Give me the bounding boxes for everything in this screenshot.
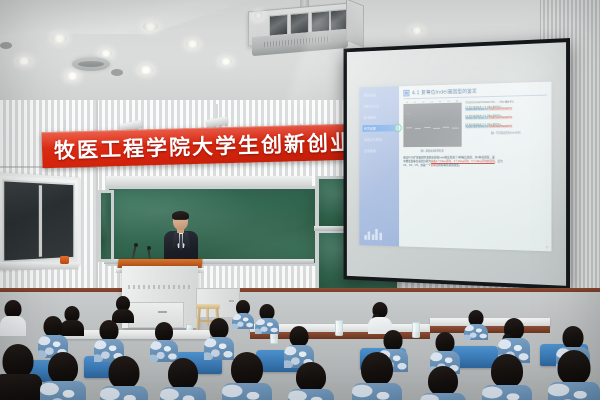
presentation-slide: 研究背景 材料与方法 技术路线 研究结果 创新点与特色 bbox=[359, 82, 552, 252]
slide-nav-label: 应用前景 bbox=[364, 149, 376, 153]
student-hair bbox=[384, 330, 403, 351]
student-uniform bbox=[204, 337, 234, 360]
student-hair bbox=[290, 326, 309, 347]
downlight bbox=[100, 50, 112, 57]
presenter-glasses bbox=[174, 219, 187, 223]
slide-body: M C1 C2 C3 C4 C5 WT bbox=[403, 98, 547, 152]
student-hair bbox=[44, 316, 63, 337]
downlight bbox=[66, 72, 79, 80]
microphone-head bbox=[134, 243, 138, 247]
sequence-block-1: C4 等位基因缺失 4 个 19bp 重复单元 TCAGGCCGACTGCAGC… bbox=[465, 113, 547, 121]
window-glass bbox=[2, 179, 74, 262]
slide-nav-item-0[interactable]: 研究背景 bbox=[362, 91, 395, 98]
downlight bbox=[17, 57, 31, 65]
student-hair bbox=[558, 350, 591, 385]
gel-caption: 图1. 凝胶电泳检测结果 bbox=[403, 148, 461, 152]
downlight bbox=[139, 66, 153, 74]
downlight bbox=[411, 27, 423, 34]
slide-content: 4.1 复等位Indel基因型的鉴定 M C1 C2 C3 C4 C5 bbox=[399, 82, 552, 252]
seq-highlight-red: TCAGGCCGACTGCAGCTCC bbox=[488, 116, 512, 119]
student-hair bbox=[436, 332, 455, 353]
student-uniform bbox=[255, 318, 279, 334]
audience-member bbox=[94, 320, 124, 360]
downlight bbox=[186, 40, 199, 48]
footnote-line-3: C1、C4、C5，这是一个复等位的复等位基因突变。 bbox=[403, 163, 547, 167]
audience-member bbox=[40, 352, 86, 400]
ceiling-hole bbox=[0, 42, 12, 49]
student-uniform bbox=[222, 383, 272, 400]
sequence-block-0: C1 等位基因缺失 1 个 19bp 重复单元 TCAGGCCGACTGCAGC… bbox=[465, 104, 547, 112]
student-hair bbox=[210, 318, 229, 339]
audience-member bbox=[464, 310, 488, 338]
stool-leg bbox=[196, 308, 201, 330]
student-uniform bbox=[464, 324, 488, 340]
slide-nav-label: 研究背景 bbox=[364, 94, 376, 98]
student-uniform bbox=[160, 387, 206, 400]
student-hair bbox=[296, 362, 326, 392]
seq-highlight-red: TCAGGCCGACTGCAGCTCC bbox=[488, 107, 512, 110]
slide-page-number: 17 bbox=[546, 245, 549, 249]
chalkboard-center bbox=[106, 186, 318, 266]
slide-nav-label: 研究结果 bbox=[364, 127, 376, 131]
audience-member bbox=[255, 304, 279, 332]
slide-footnote: 经过PCR扩增和测序发现该基因Indel突变形成了3种等位基因，共6种基因型，其… bbox=[403, 155, 547, 168]
lectern-handle bbox=[158, 311, 167, 313]
ceiling-bevel bbox=[0, 0, 250, 34]
audience-member bbox=[548, 350, 600, 400]
chalkboard-top-strip bbox=[106, 176, 312, 186]
student-uniform bbox=[100, 386, 148, 400]
audience-member bbox=[368, 302, 392, 332]
student-hair bbox=[361, 352, 393, 386]
downlight bbox=[52, 34, 67, 43]
slide-nav-item-5[interactable]: 应用前景 bbox=[362, 147, 395, 154]
slide-sidebar: 研究背景 材料与方法 技术路线 研究结果 创新点与特色 bbox=[359, 86, 399, 246]
audience-member bbox=[0, 300, 26, 334]
cage-window bbox=[290, 12, 309, 35]
audience-member bbox=[38, 316, 68, 356]
student-uniform bbox=[40, 381, 86, 400]
microphone-head bbox=[147, 246, 151, 250]
student-uniform bbox=[482, 385, 532, 400]
student-hair bbox=[428, 366, 458, 396]
student-uniform bbox=[150, 340, 178, 362]
sill-object bbox=[60, 256, 69, 264]
slide-nav-item-2[interactable]: 技术路线 bbox=[362, 114, 395, 121]
audience-member bbox=[284, 326, 314, 366]
student-uniform bbox=[548, 382, 600, 400]
banner-string bbox=[64, 120, 66, 129]
sequence-line: TCAGGCCGACTGCAGCTCCTCAGGCCGACTGCAGCTCC bbox=[465, 117, 547, 121]
water-bottle bbox=[335, 320, 343, 336]
student-uniform bbox=[352, 383, 402, 400]
student-hair bbox=[563, 326, 584, 349]
sequence-line: TCAGGCCGACTGCAGCTCCTCAGGCCGACTGCAGCTCC bbox=[465, 126, 547, 130]
footnote-pre: C1、C4、C5，这是一个 bbox=[403, 163, 430, 167]
student-hair bbox=[168, 358, 198, 390]
audience-member bbox=[112, 296, 134, 322]
ceiling-hole bbox=[111, 69, 123, 76]
seq-highlight-blue: TCAGGCCGACTGCAGCTCC bbox=[465, 125, 488, 128]
ac-vent bbox=[72, 57, 110, 71]
lecture-hall-photo: 牧医工程学院大学生创新创业 研究背景 材料与方法 技术路线 bbox=[0, 0, 600, 400]
slide-nav-item-3[interactable]: 研究结果 bbox=[362, 125, 395, 132]
footnote-post: 的复等位基因突变。 bbox=[438, 163, 461, 167]
slide-title: 4.1 复等位Indel基因型的鉴定 bbox=[412, 88, 477, 97]
screen-surface: 研究背景 材料与方法 技术路线 研究结果 创新点与特色 bbox=[347, 42, 566, 286]
seq-highlight-blue: TCAGGCCGACTGCAGCTCC bbox=[465, 108, 488, 111]
projector-side-panel bbox=[346, 0, 364, 48]
sequence-block-2: C5 等位基因缺失 5 个 19bp 重复单元 TCAGGCCGACTGCAGC… bbox=[465, 122, 547, 130]
student-hair bbox=[231, 352, 263, 386]
seq-highlight-red: TCAGGCCGACTGCAGCTCC bbox=[488, 125, 512, 128]
downlight bbox=[143, 22, 158, 31]
slide-nav-item-4[interactable]: 创新点与特色 bbox=[362, 136, 395, 143]
student-hair bbox=[491, 354, 523, 388]
ceiling-projector bbox=[248, 0, 358, 52]
audience-member bbox=[204, 318, 234, 358]
slide-nav-label: 技术路线 bbox=[364, 116, 376, 120]
student-uniform bbox=[232, 313, 254, 329]
slide-nav-label: 材料与方法 bbox=[364, 105, 379, 109]
sequence-line: TCAGGCCGACTGCAGCTCCTCAGGCCGACTGCAGCTCC bbox=[465, 108, 547, 112]
student-shirt bbox=[0, 316, 26, 336]
slide-title-icon bbox=[403, 90, 409, 97]
student-hair bbox=[48, 352, 78, 384]
window-mullion bbox=[39, 185, 42, 257]
chalkboard-left bbox=[98, 190, 114, 262]
student-hair bbox=[3, 344, 34, 378]
sequence-figure: TCAGGCCGACTGCAGCTCC……19bp 重复单元 C1 等位基因缺失… bbox=[465, 98, 547, 152]
slide-nav-label: 创新点与特色 bbox=[364, 138, 382, 142]
gel-image bbox=[403, 103, 461, 148]
student-hair bbox=[155, 322, 173, 342]
lectern-inscription bbox=[128, 285, 190, 289]
footnote-highlight: 复等位 bbox=[431, 163, 439, 167]
downlight bbox=[220, 58, 232, 65]
student-uniform bbox=[288, 389, 334, 400]
seq-highlight-blue: TCAGGCCGACTGCAGCTCC bbox=[465, 117, 488, 120]
projection-screen: 研究背景 材料与方法 技术路线 研究结果 创新点与特色 bbox=[344, 38, 570, 290]
student-hair bbox=[109, 356, 140, 389]
gel-figure: M C1 C2 C3 C4 C5 WT bbox=[403, 100, 461, 152]
water-bottle bbox=[412, 322, 420, 338]
audience-member bbox=[232, 300, 254, 328]
audience-member bbox=[150, 322, 178, 360]
bar-chart-icon bbox=[364, 228, 382, 240]
slide-nav-item-1[interactable]: 材料与方法 bbox=[362, 102, 395, 109]
footnote-post: ，记为 bbox=[495, 159, 503, 163]
student-torso bbox=[0, 374, 42, 400]
sequence-caption: 图2. 不同基因型的DNA序列 bbox=[465, 131, 547, 136]
student-uniform bbox=[420, 393, 466, 400]
student-hair bbox=[100, 320, 119, 341]
